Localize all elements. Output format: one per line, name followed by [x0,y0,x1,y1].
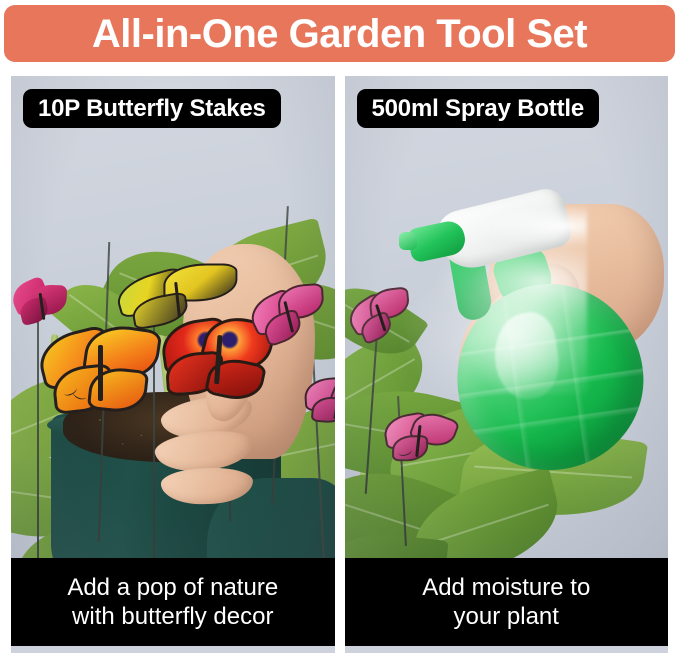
caption-line-1: Add moisture to [422,573,590,602]
badge-label: 500ml Spray Bottle [372,95,584,123]
panel-butterfly-stakes: 10P Butterfly Stakes Add a pop of nature… [11,76,335,653]
panel-spray-bottle: 500ml Spray Bottle Add moisture to your … [345,76,669,653]
badge-label: 10P Butterfly Stakes [38,95,266,123]
caption-spray-bottle: Add moisture to your plant [345,558,669,646]
photo-butterfly-stakes: 10P Butterfly Stakes [11,76,335,558]
badge-spray-bottle: 500ml Spray Bottle [357,89,599,128]
butterfly-orange-yellow [39,324,159,420]
panel-container: 10P Butterfly Stakes Add a pop of nature… [0,76,679,653]
caption-line-1: Add a pop of nature [67,573,278,602]
caption-line-2: your plant [454,602,559,631]
butterfly-pink-magenta [11,276,72,329]
caption-butterfly-stakes: Add a pop of nature with butterfly decor [11,558,335,646]
photo-spray-bottle: 500ml Spray Bottle [345,76,669,558]
page-title: All-in-One Garden Tool Set [92,14,587,54]
caption-line-2: with butterfly decor [72,602,273,631]
badge-butterfly-stakes: 10P Butterfly Stakes [23,89,281,128]
header-banner: All-in-One Garden Tool Set [4,5,675,62]
spray-nozzle-tip [399,232,417,250]
butterfly-pink-mid [380,408,455,471]
